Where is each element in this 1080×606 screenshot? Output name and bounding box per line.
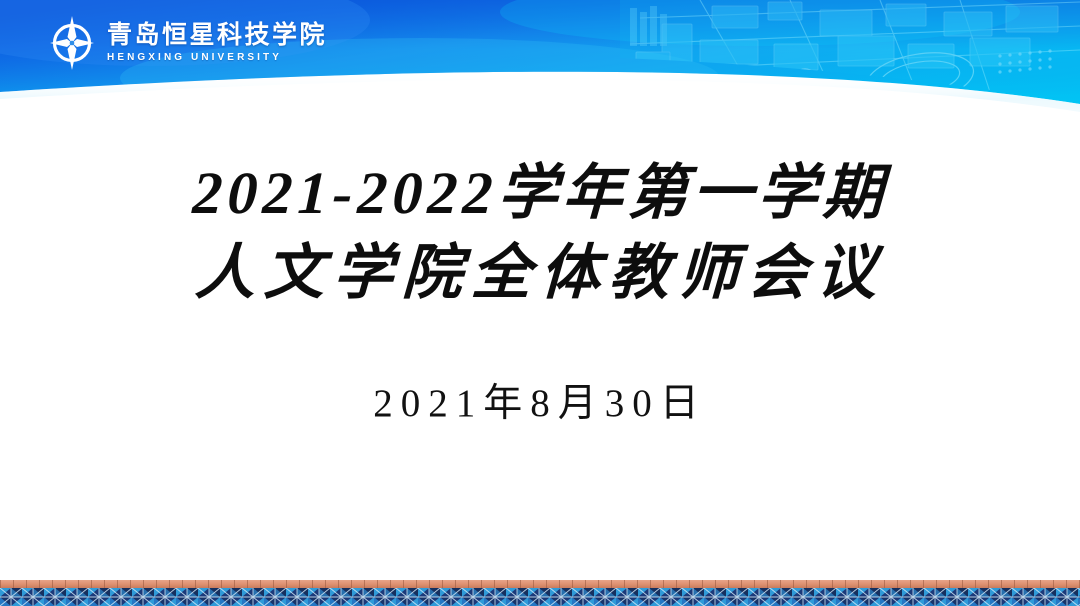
presentation-slide: 青岛恒星科技学院 HENGXING UNIVERSITY 2021-2022学年… [0, 0, 1080, 606]
slide-title: 2021-2022学年第一学期 人文学院全体教师会议 [0, 154, 1080, 314]
title-line-2: 人文学院全体教师会议 [0, 234, 1080, 314]
logo-name-cn: 青岛恒星科技学院 [107, 23, 327, 49]
logo-name-en: HENGXING UNIVERSITY [107, 50, 327, 65]
logo-text-block: 青岛恒星科技学院 HENGXING UNIVERSITY [107, 21, 327, 65]
footer-decorative-border [0, 580, 1080, 606]
compass-star-circle-icon [46, 15, 98, 71]
slide-body: 2021-2022学年第一学期 人文学院全体教师会议 2021年8月30日 [0, 132, 1080, 574]
footer-triangle-pattern [0, 588, 1080, 606]
slide-date: 2021年8月30日 [0, 372, 1080, 428]
title-line-1: 2021-2022学年第一学期 [0, 154, 1080, 234]
header-banner: 青岛恒星科技学院 HENGXING UNIVERSITY [0, 0, 1080, 132]
university-logo: 青岛恒星科技学院 HENGXING UNIVERSITY [46, 14, 327, 72]
footer-brick-stripe [0, 580, 1080, 588]
